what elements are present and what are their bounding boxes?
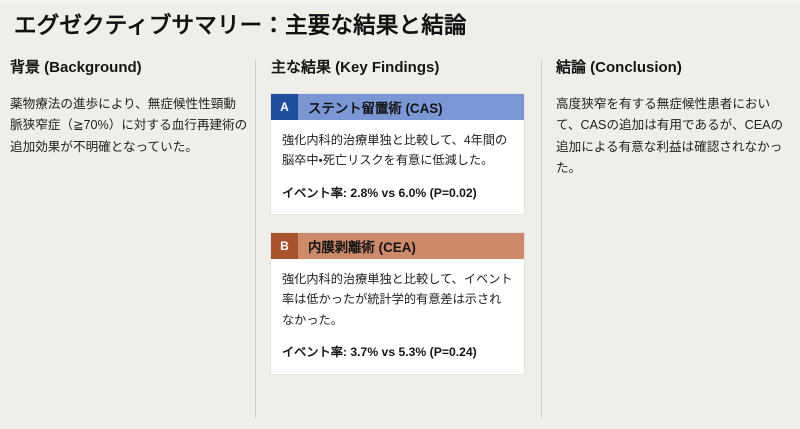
background-body-text: 薬物療法の進歩により、無症候性性頸動脈狭窄症（≧70%）に対する血行再建術の追加… — [10, 94, 248, 159]
column-divider-left — [255, 60, 256, 418]
finding-card-cas-badge: A — [271, 94, 298, 120]
finding-card-cas-title: ステント留置術 (CAS) — [298, 97, 443, 117]
columns-container: 背景 (Background) 薬物療法の進歩により、無症候性性頸動脈狭窄症（≧… — [0, 58, 800, 424]
finding-card-cea-header: B 内膜剥離術 (CEA) — [271, 233, 524, 259]
finding-card-cea-badge: B — [271, 233, 298, 259]
finding-card-cas-body: 強化内科的治療単独と比較して、4年間の脳卒中・死亡リスクを有意に低減した。 イベ… — [271, 120, 524, 214]
finding-card-cea-text: 強化内科的治療単独と比較して、イベント率は低かったが統計学的有意差は示されなかっ… — [282, 269, 513, 331]
key-findings-heading: 主な結果 (Key Findings) — [271, 58, 524, 78]
background-heading: 背景 (Background) — [10, 58, 248, 78]
column-key-findings: 主な結果 (Key Findings) A ステント留置術 (CAS) 強化内科… — [271, 58, 524, 424]
finding-card-cea-title: 内膜剥離術 (CEA) — [298, 236, 416, 256]
finding-card-cas-header: A ステント留置術 (CAS) — [271, 94, 524, 120]
column-conclusion: 結論 (Conclusion) 高度狭窄を有する無症候性患者において、CASの追… — [556, 58, 792, 424]
conclusion-body-text: 高度狭窄を有する無症候性患者において、CASの追加は有用であるが、CEAの追加に… — [556, 94, 792, 181]
finding-card-cas-stat: イベント率: 2.8% vs 6.0% (P=0.02) — [282, 184, 513, 202]
finding-card-cea-body: 強化内科的治療単独と比較して、イベント率は低かったが統計学的有意差は示されなかっ… — [271, 259, 524, 374]
slide-root: エグゼクティブサマリー：主要な結果と結論 背景 (Background) 薬物療… — [0, 0, 800, 429]
finding-card-cea: B 内膜剥離術 (CEA) 強化内科的治療単独と比較して、イベント率は低かったが… — [271, 233, 524, 374]
column-divider-right — [541, 60, 542, 418]
finding-card-cea-stat: イベント率: 3.7% vs 5.3% (P=0.24) — [282, 343, 513, 361]
conclusion-heading: 結論 (Conclusion) — [556, 58, 792, 78]
top-edge-strip — [0, 0, 800, 4]
finding-card-cas: A ステント留置術 (CAS) 強化内科的治療単独と比較して、4年間の脳卒中・死… — [271, 94, 524, 214]
column-background: 背景 (Background) 薬物療法の進歩により、無症候性性頸動脈狭窄症（≧… — [10, 58, 248, 424]
finding-card-cas-text: 強化内科的治療単独と比較して、4年間の脳卒中・死亡リスクを有意に低減した。 — [282, 130, 513, 171]
page-title: エグゼクティブサマリー：主要な結果と結論 — [14, 12, 784, 40]
